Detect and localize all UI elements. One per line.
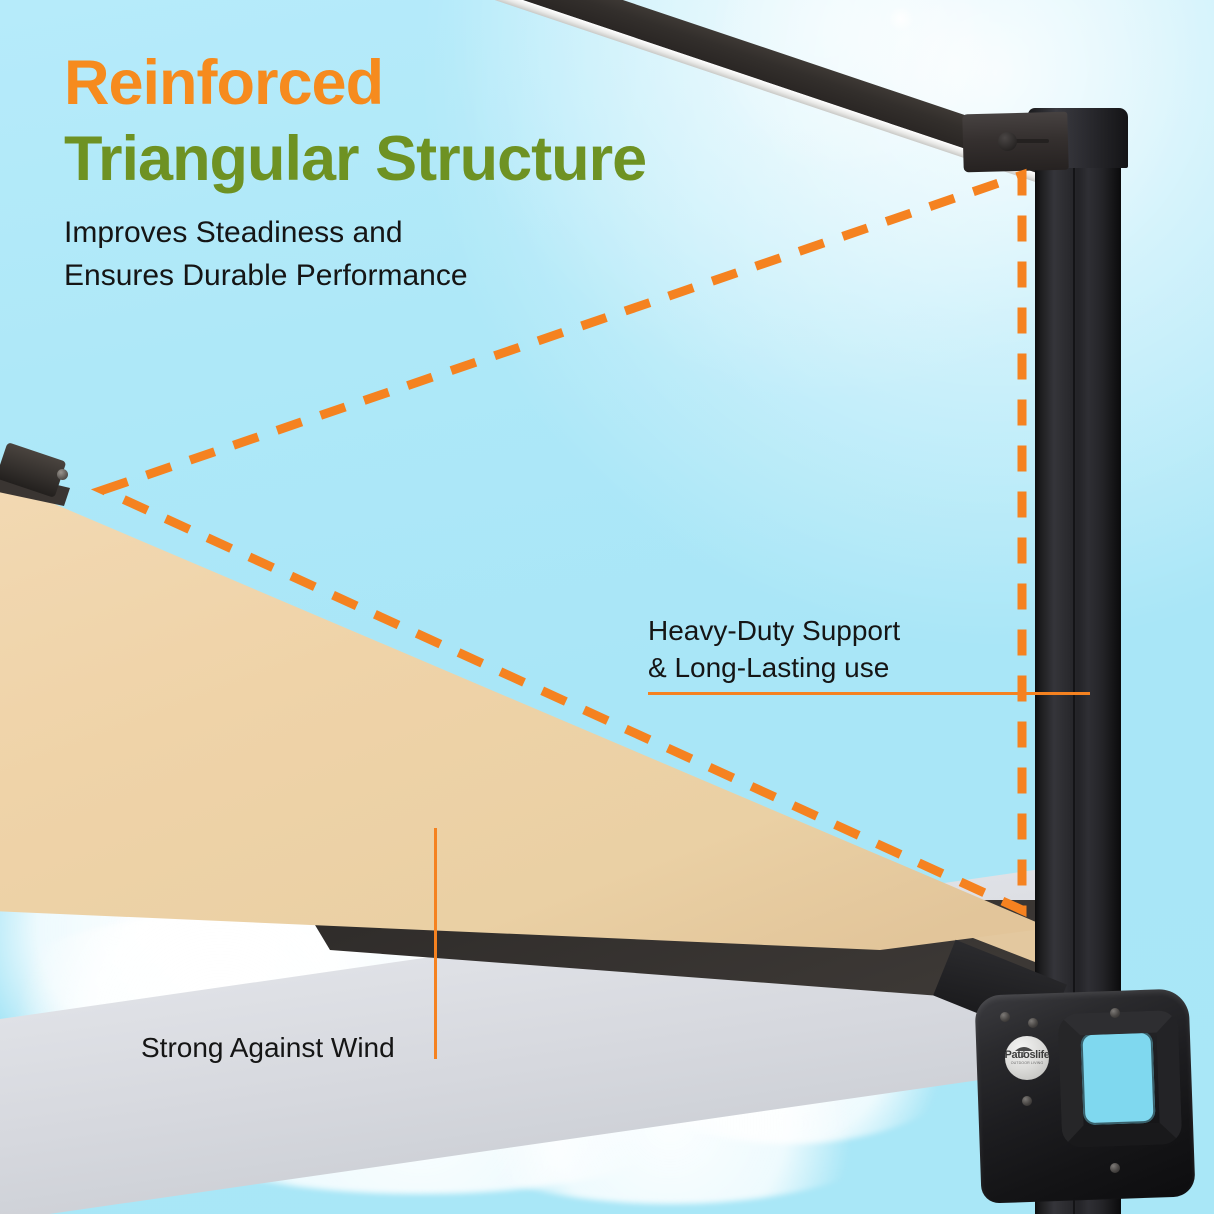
- screw-icon: [1028, 1018, 1038, 1028]
- subheadline-line-2: Ensures Durable Performance: [64, 255, 468, 298]
- screw-icon: [1110, 1163, 1120, 1173]
- umbrella-icon: [1014, 1045, 1034, 1057]
- subheadline-line-1: Improves Steadiness and: [64, 212, 468, 255]
- brand-badge: Patioslife OUTDOOR LIVING: [1005, 1036, 1049, 1080]
- screw-icon: [1022, 1096, 1032, 1106]
- handle-grip-loop: [1058, 1010, 1183, 1148]
- subheadline: Improves Steadiness and Ensures Durable …: [64, 212, 468, 297]
- callout-support-line-2: & Long-Lasting use: [648, 649, 900, 686]
- leader-line-support: [648, 692, 1090, 695]
- headline-line-1: Reinforced: [64, 50, 383, 116]
- callout-strong-against-wind: Strong Against Wind: [141, 1029, 395, 1066]
- leader-line-wind: [434, 828, 437, 1059]
- callout-heavy-duty-support: Heavy-Duty Support & Long-Lasting use: [648, 612, 900, 686]
- brand-badge-tagline: OUTDOOR LIVING: [1011, 1062, 1044, 1066]
- product-feature-image: Patioslife OUTDOOR LIVING Reinforced Tri…: [0, 0, 1214, 1214]
- callout-wind-line-1: Strong Against Wind: [141, 1029, 395, 1066]
- headline-line-2: Triangular Structure: [64, 126, 646, 192]
- screw-icon: [1000, 1012, 1010, 1022]
- callout-support-line-1: Heavy-Duty Support: [648, 612, 900, 649]
- screw-icon: [1110, 1008, 1120, 1018]
